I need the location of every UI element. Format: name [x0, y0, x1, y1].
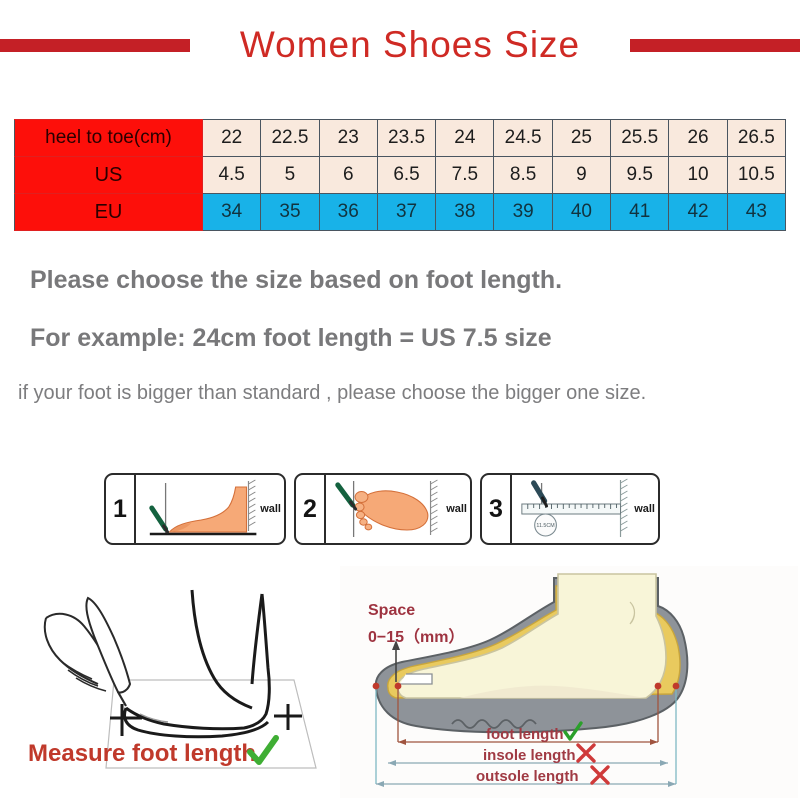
row-label-us: US — [15, 157, 203, 194]
row-label-eu: EU — [15, 194, 203, 231]
measure-steps: 1 — [104, 473, 660, 545]
gauge-reading: 11.5CM — [536, 523, 555, 529]
page-title: Women Shoes Size — [190, 24, 630, 66]
note-line-3: if your foot is bigger than standard , p… — [18, 382, 646, 405]
wall-label-3: wall — [634, 503, 655, 515]
foot-side-view-icon: wall — [136, 475, 284, 543]
space-label-line2: 0−15（mm） — [368, 623, 465, 647]
cell: 9.5 — [611, 157, 669, 194]
cell: 41 — [611, 194, 669, 231]
cell: 26.5 — [727, 120, 785, 157]
page-title-row: Women Shoes Size — [0, 16, 800, 74]
step-panel-3: 3 — [480, 473, 660, 545]
measurement-label-foot-length: foot length — [486, 726, 563, 743]
table-row: EU 34 35 36 37 38 39 40 41 42 43 — [15, 194, 786, 231]
cell: 22.5 — [261, 120, 319, 157]
step-panel-2: 2 — [294, 473, 472, 545]
cell: 36 — [319, 194, 377, 231]
cell: 5 — [261, 157, 319, 194]
cell: 38 — [436, 194, 494, 231]
wall-label-2: wall — [446, 503, 467, 515]
step-panel-1: 1 — [104, 473, 286, 545]
measurement-label-insole-length: insole length — [483, 747, 576, 764]
foot-top-view-icon: wall — [326, 475, 470, 543]
note-line-2: For example: 24cm foot length = US 7.5 s… — [30, 324, 552, 353]
cell: 9 — [552, 157, 610, 194]
cell: 24.5 — [494, 120, 552, 157]
cell: 25 — [552, 120, 610, 157]
size-chart-page: Women Shoes Size heel to toe(cm) 22 22.5… — [0, 0, 800, 800]
size-table: heel to toe(cm) 22 22.5 23 23.5 24 24.5 … — [14, 119, 786, 231]
step-number-2: 2 — [296, 475, 326, 543]
cell: 4.5 — [203, 157, 261, 194]
cell: 6.5 — [377, 157, 435, 194]
measure-foot-caption: Measure foot length — [28, 740, 256, 768]
cell: 7.5 — [436, 157, 494, 194]
cell: 35 — [261, 194, 319, 231]
table-row: heel to toe(cm) 22 22.5 23 23.5 24 24.5 … — [15, 120, 786, 157]
step-number-1: 1 — [106, 475, 136, 543]
space-label-line1: Space — [368, 602, 415, 620]
cell: 23 — [319, 120, 377, 157]
ruler-measure-icon: 11.5CM wall — [512, 475, 658, 543]
cross-icon-outsole-length — [589, 764, 611, 786]
cell: 39 — [494, 194, 552, 231]
measurement-label-outsole-length: outsole length — [476, 768, 579, 785]
cell: 23.5 — [377, 120, 435, 157]
title-bar-right — [630, 39, 800, 52]
cell: 6 — [319, 157, 377, 194]
cell: 37 — [377, 194, 435, 231]
cell: 8.5 — [494, 157, 552, 194]
cell: 25.5 — [611, 120, 669, 157]
cell: 24 — [436, 120, 494, 157]
step-number-3: 3 — [482, 475, 512, 543]
cell: 42 — [669, 194, 727, 231]
cell: 10.5 — [727, 157, 785, 194]
cell: 22 — [203, 120, 261, 157]
cell: 34 — [203, 194, 261, 231]
note-line-1: Please choose the size based on foot len… — [30, 266, 562, 295]
row-label-heel-to-toe: heel to toe(cm) — [15, 120, 203, 157]
cell: 40 — [552, 194, 610, 231]
title-bar-left — [0, 39, 190, 52]
cell: 10 — [669, 157, 727, 194]
green-check-icon — [246, 735, 280, 769]
cross-icon-insole-length — [575, 742, 597, 764]
table-row: US 4.5 5 6 6.5 7.5 8.5 9 9.5 10 10.5 — [15, 157, 786, 194]
cell: 43 — [727, 194, 785, 231]
shoe-cross-section-diagram: Space 0−15（mm） foot length insole length… — [340, 566, 798, 798]
wall-label-1: wall — [260, 503, 281, 515]
cell: 26 — [669, 120, 727, 157]
check-icon-foot-length — [562, 721, 584, 743]
